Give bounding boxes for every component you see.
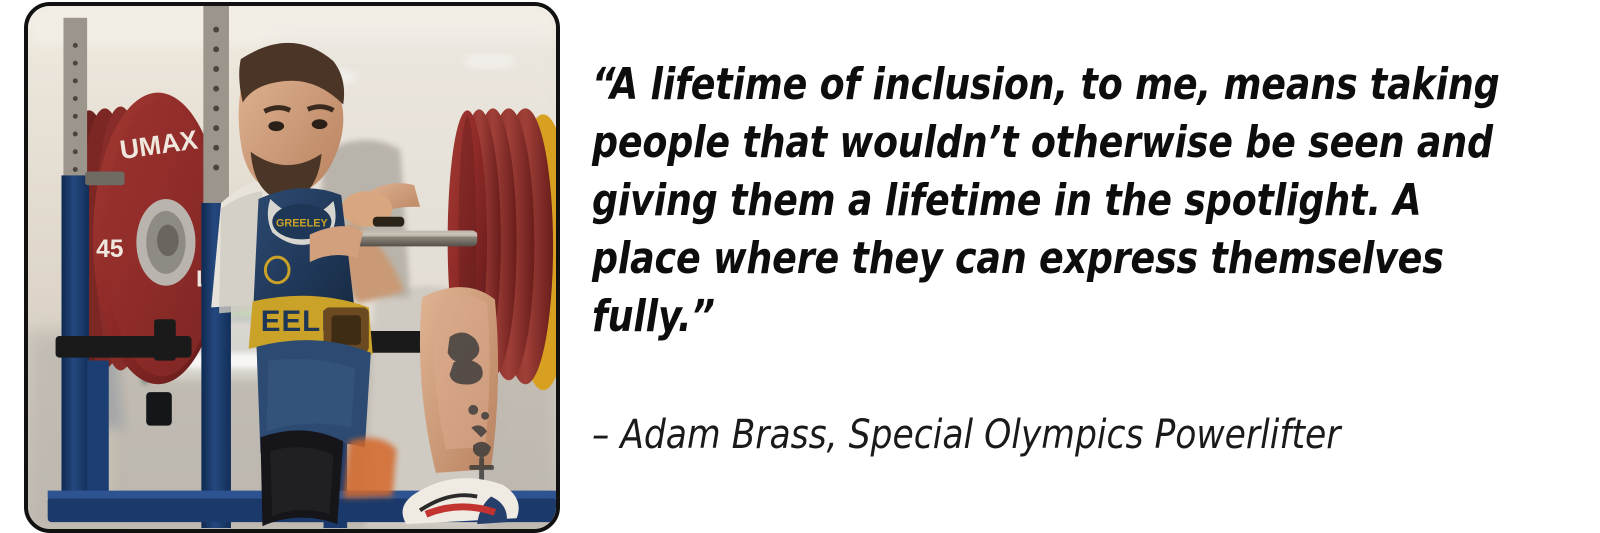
quote-attribution: – Adam Brass, Special Olympics Powerlift… — [592, 408, 1340, 462]
quote-line-3: giving them a lifetime in the spotlight.… — [592, 172, 1420, 230]
singlet-logo-text: GREELEY — [276, 218, 329, 230]
plate-weight-text: 45 — [96, 236, 123, 263]
wristwatch — [373, 217, 405, 227]
quote-text: “A lifetime of inclusion, to me, means t… — [592, 56, 1492, 346]
quote-line-1: “A lifetime of inclusion, to me, means t… — [592, 56, 1420, 114]
powerlifter-photo: UMAX 45 LB — [24, 2, 560, 533]
quote-line-5: fully.” — [592, 288, 1420, 346]
quote-card: UMAX 45 LB — [0, 0, 1600, 533]
quote-line-2: people that wouldn’t otherwise be seen a… — [592, 114, 1420, 172]
photo-illustration: UMAX 45 LB — [28, 6, 556, 529]
quote-line-4: place where they can express themselves — [592, 230, 1420, 288]
